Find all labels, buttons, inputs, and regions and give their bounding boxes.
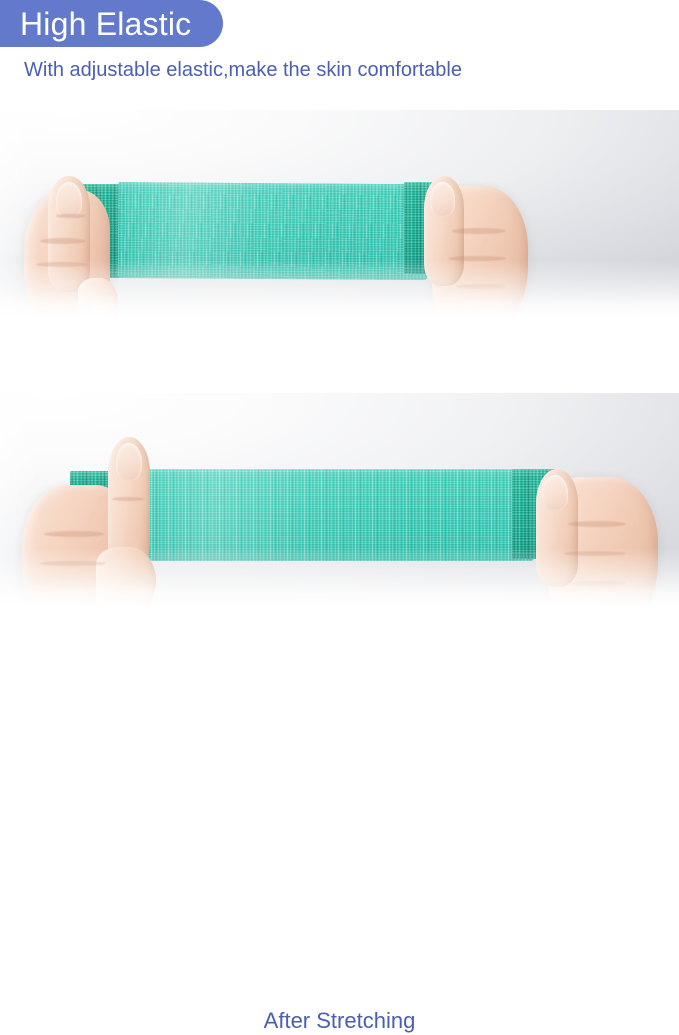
right-hand-thumbnail	[430, 182, 455, 217]
bandage-strip	[118, 182, 429, 280]
badge-label: High Elastic	[20, 8, 191, 40]
left-hand-thumbnail	[56, 182, 82, 218]
left-hand-index-nail	[88, 306, 110, 318]
left-hand-crease	[40, 238, 86, 244]
right-hand-crease	[456, 284, 506, 289]
high-elastic-badge: High Elastic	[0, 0, 223, 47]
left-hand-index-finger	[96, 547, 156, 608]
right-hand-crease	[572, 581, 626, 586]
bandage-sheen	[124, 469, 534, 561]
left-hand-crease	[112, 497, 144, 501]
bandage-strip	[124, 469, 534, 561]
header-banner: High Elastic With adjustable elastic,mak…	[0, 0, 679, 110]
header-subtitle: With adjustable elastic,make the skin co…	[24, 57, 462, 83]
panel-before-stretching: Before Stretching	[0, 110, 679, 385]
right-hand-crease	[452, 228, 506, 234]
panel-after-stretching: After Stretching	[0, 393, 679, 650]
right-hand-crease	[448, 256, 506, 261]
left-hand-crease	[36, 262, 88, 267]
left-hand-crease	[40, 561, 106, 566]
left-hand-crease	[44, 531, 104, 537]
right-hand-thumbnail	[542, 475, 568, 511]
photo-before-stretching	[0, 110, 679, 318]
left-hand-crease	[56, 214, 86, 218]
caption-after-stretching: After Stretching	[0, 1007, 679, 1035]
right-hand-crease	[568, 521, 626, 527]
left-hand-thumbnail	[116, 443, 142, 481]
photo-after-stretching	[0, 393, 679, 608]
bandage-sheen	[118, 182, 429, 280]
right-hand-crease	[564, 551, 626, 556]
